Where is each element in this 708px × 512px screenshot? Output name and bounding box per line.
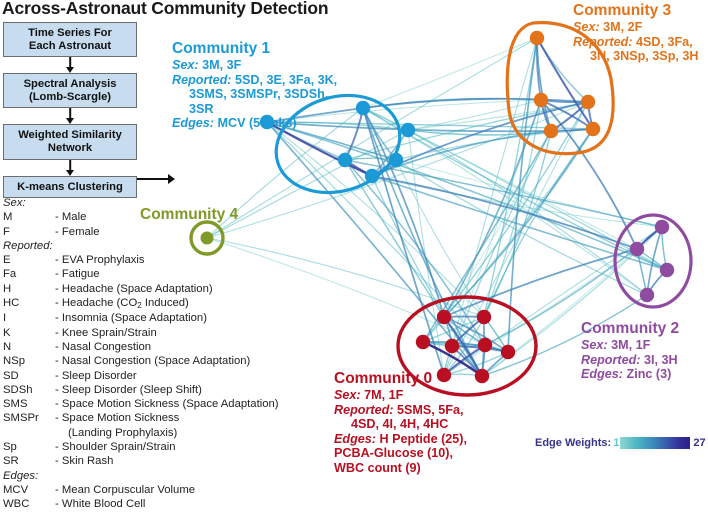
legend-key: I [3, 311, 55, 325]
network-edge [423, 131, 551, 342]
flow-step-spectral-analysis: Spectral Analysis (Lomb-Scargle) [3, 73, 137, 108]
community-2-title: Community 2 [581, 320, 708, 338]
reported-label: Reported: [573, 35, 632, 49]
network-edge [267, 122, 482, 376]
network-edge [372, 160, 396, 176]
flow-arrow-2 [3, 108, 137, 124]
network-edge [484, 317, 485, 345]
legend-row: WBC- White Blood Cell [3, 497, 288, 511]
network-edge [345, 160, 482, 376]
network-edge [423, 317, 484, 342]
network-edge [363, 99, 541, 108]
legend-value: - Headache (CO2 Induced) [55, 296, 288, 311]
network-node[interactable] [581, 95, 595, 109]
network-node[interactable] [365, 169, 379, 183]
network-edge [372, 176, 662, 227]
sex-value: 7M, 1F [364, 388, 403, 402]
edges-label: Edges: [172, 116, 214, 130]
flow-step-line1: Time Series For [6, 27, 134, 40]
network-edge [485, 345, 508, 352]
network-edge [345, 102, 588, 160]
network-edge [267, 122, 662, 227]
community-1-title: Community 1 [172, 40, 357, 58]
legend-value: - Space Motion Sickness [55, 411, 288, 425]
network-edge [267, 122, 667, 270]
legend-value: - Insomnia (Space Adaptation) [55, 311, 288, 325]
network-edge [482, 317, 484, 376]
network-node[interactable] [478, 338, 492, 352]
network-edge [662, 227, 667, 270]
community-0-edges-cont1: PCBA-Glucose (10), [334, 446, 524, 461]
reported-label: Reported: [334, 403, 393, 417]
legend-header-edges: Edges: [3, 469, 288, 483]
network-edge [423, 342, 485, 345]
network-edge [537, 38, 551, 131]
flow-arrow-3 [3, 160, 137, 176]
flow-step-line1: K-means Clustering [6, 181, 134, 194]
network-edge [372, 176, 637, 249]
network-edge [345, 158, 396, 160]
legend-value: - Knee Sprain/Strain [55, 326, 288, 340]
community-1-edges: Edges: MCV (5 links) [172, 116, 357, 131]
network-edge [372, 176, 667, 270]
network-edge [508, 38, 537, 352]
colorbar-gradient-swatch [620, 437, 690, 449]
legend-value-tail: Induced) [142, 297, 189, 309]
network-edge [267, 122, 484, 317]
legend-row: HC- Headache (CO2 Induced) [3, 296, 288, 311]
colorbar-max-value: 27 [693, 437, 705, 449]
network-node[interactable] [477, 310, 491, 324]
network-edge [484, 129, 593, 317]
sex-value: 3M, 2F [603, 20, 642, 34]
legend-key: K [3, 326, 55, 340]
community-0-edges-cont2: WBC count (9) [334, 461, 524, 476]
network-edge [647, 270, 667, 295]
network-edge [444, 249, 637, 317]
legend-value-subscript: 2 [137, 301, 141, 310]
network-edge [363, 108, 637, 249]
community-3-reported-cont: 3N, 3NSp, 3Sp, 3H [573, 49, 708, 64]
legend-key: SMSPr [3, 411, 55, 425]
network-edge [444, 100, 541, 317]
network-edge [408, 129, 593, 135]
flow-step-line2: (Lomb-Scargle) [6, 91, 134, 104]
community-hull-2 [615, 215, 691, 307]
legend-row: Fa- Fatigue [3, 267, 288, 281]
community-1-sex: Sex: 3M, 3F [172, 58, 357, 73]
network-edge [484, 131, 551, 317]
network-edge [363, 38, 537, 108]
network-node[interactable] [586, 122, 600, 136]
network-edge [408, 100, 541, 130]
legend-value: - Space Motion Sickness (Space Adaptatio… [55, 397, 288, 411]
edges-value: H Peptide (25), [380, 432, 467, 446]
legend-key: SMS [3, 397, 55, 411]
sex-label: Sex: [334, 388, 361, 402]
network-edge [363, 99, 588, 108]
community-2-annotation: Community 2 Sex: 3M, 1F Reported: 3I, 3H… [581, 320, 708, 382]
community-1-reported-cont: 3SMS, 3SMSPr, 3SDSh, [172, 87, 357, 102]
network-edge [484, 317, 508, 352]
legend-value: - Nasal Congestion [55, 340, 288, 354]
network-edge [537, 38, 541, 100]
network-edge [372, 130, 408, 176]
abbreviation-legend: Sex: M- Male F- Female Reported: E- EVA … [3, 196, 288, 512]
network-node[interactable] [437, 310, 451, 324]
legend-value: - Female [55, 225, 288, 239]
network-edge [363, 108, 444, 317]
network-edge [452, 345, 485, 346]
network-edge [363, 108, 444, 375]
network-edge [452, 38, 537, 346]
network-edge [345, 160, 662, 227]
edges-label: Edges: [581, 367, 623, 381]
network-edge [372, 102, 588, 176]
sex-value: 3M, 1F [611, 338, 650, 352]
network-edge [408, 130, 551, 135]
network-node[interactable] [389, 153, 403, 167]
legend-value-continuation: (Landing Prophylaxis) [3, 426, 288, 440]
network-edge [423, 342, 508, 352]
sex-label: Sex: [581, 338, 608, 352]
reported-value: 5SMS, 5Fa, [397, 403, 464, 417]
network-edge [551, 129, 593, 131]
network-edge [363, 108, 647, 295]
network-edge [444, 317, 452, 346]
flow-arrow-to-network-icon [137, 174, 179, 184]
legend-key: E [3, 253, 55, 267]
legend-key: H [3, 282, 55, 296]
legend-key: HC [3, 296, 55, 311]
network-edge [363, 108, 396, 160]
community-1-reported: Reported: 5SD, 3E, 3Fa, 3K, [172, 73, 357, 88]
edges-value: Zinc (3) [627, 367, 672, 381]
legend-value: - Nasal Congestion (Space Adaptation) [55, 354, 288, 368]
sex-label: Sex: [172, 58, 199, 72]
network-node[interactable] [530, 31, 544, 45]
legend-row: I- Insomnia (Space Adaptation) [3, 311, 288, 325]
legend-row: K- Knee Sprain/Strain [3, 326, 288, 340]
legend-key: SD [3, 369, 55, 383]
sex-value: 3M, 3F [202, 58, 241, 72]
network-edge [408, 102, 588, 130]
network-edge [372, 176, 482, 376]
community-4-title: Community 4 [140, 206, 238, 224]
community-3-reported: Reported: 4SD, 3Fa, [573, 35, 708, 50]
network-edge [363, 108, 482, 376]
network-edge [484, 38, 537, 317]
legend-value-text: - Headache (CO [55, 297, 137, 309]
legend-key: MCV [3, 483, 55, 497]
network-edge [588, 102, 593, 129]
network-edge [396, 160, 647, 295]
legend-key: N [3, 340, 55, 354]
network-edge [452, 346, 508, 352]
network-node[interactable] [356, 101, 370, 115]
legend-value: - Sleep Disorder (Sleep Shift) [55, 383, 288, 397]
flow-step-weighted-similarity-network: Weighted Similarity Network [3, 124, 137, 159]
network-edge [444, 317, 485, 345]
network-edge [345, 160, 372, 176]
reported-label: Reported: [581, 353, 640, 367]
network-edge [423, 129, 593, 342]
network-edge [637, 249, 667, 270]
page-title: Across-Astronaut Community Detection [2, 0, 328, 19]
network-node[interactable] [534, 93, 548, 107]
network-edge [444, 317, 508, 352]
reported-value: 4SD, 3Fa, [636, 35, 693, 49]
network-edge [363, 108, 408, 130]
legend-key: Fa [3, 267, 55, 281]
network-edge [363, 108, 667, 270]
network-edge [372, 131, 551, 176]
network-node[interactable] [445, 339, 459, 353]
legend-key: M [3, 210, 55, 224]
network-edge [444, 129, 593, 317]
network-edge [345, 160, 485, 345]
network-edge [444, 131, 551, 317]
legend-key: SR [3, 454, 55, 468]
network-edge [647, 227, 662, 295]
network-edge [408, 130, 647, 295]
community-0-reported: Reported: 5SMS, 5Fa, [334, 403, 524, 418]
network-edge [452, 100, 541, 346]
network-edge [444, 317, 484, 375]
community-0-title: Community 0 [334, 370, 524, 388]
network-edge [396, 129, 593, 160]
legend-key: WBC [3, 497, 55, 511]
legend-value: - Sleep Disorder [55, 369, 288, 383]
legend-key: Sp [3, 440, 55, 454]
community-0-annotation: Community 0 Sex: 7M, 1F Reported: 5SMS, … [334, 370, 524, 476]
edges-label: Edges: [334, 432, 376, 446]
reported-value: 3I, 3H [644, 353, 678, 367]
network-edge [452, 317, 484, 346]
community-2-sex: Sex: 3M, 1F [581, 338, 708, 353]
legend-row: SR- Skin Rash [3, 454, 288, 468]
legend-value: - Fatigue [55, 267, 288, 281]
network-edge [541, 100, 637, 249]
flow-step-line2: Each Astronaut [6, 40, 134, 53]
legend-value: - Headache (Space Adaptation) [55, 282, 288, 296]
network-node[interactable] [660, 263, 674, 277]
network-edge [444, 317, 482, 376]
edge-weights-colorbar: Edge Weights: 1 27 [535, 437, 706, 449]
legend-row: H- Headache (Space Adaptation) [3, 282, 288, 296]
edges-value: MCV (5 links) [218, 116, 297, 130]
community-4-annotation: Community 4 [140, 206, 238, 224]
network-edge [408, 130, 444, 375]
legend-value: - Mean Corpuscular Volume [55, 483, 288, 497]
network-edge [423, 342, 452, 346]
network-edge [541, 100, 588, 102]
flow-arrow-1 [3, 57, 137, 73]
community-2-reported: Reported: 3I, 3H [581, 353, 708, 368]
network-node[interactable] [338, 153, 352, 167]
community-2-edges: Edges: Zinc (3) [581, 367, 708, 382]
flow-step-line1: Weighted Similarity [6, 129, 134, 142]
flow-step-line2: Network [6, 142, 134, 155]
network-edge [267, 122, 485, 345]
network-node[interactable] [640, 288, 654, 302]
legend-row: Sp- Shoulder Sprain/Strain [3, 440, 288, 454]
network-edge [484, 100, 541, 317]
reported-label: Reported: [172, 73, 231, 87]
network-node[interactable] [416, 335, 430, 349]
community-1-annotation: Community 1 Sex: 3M, 3F Reported: 5SD, 3… [172, 40, 357, 131]
legend-row: E- EVA Prophylaxis [3, 253, 288, 267]
network-edge [551, 102, 588, 131]
network-node[interactable] [401, 123, 415, 137]
legend-row: N- Nasal Congestion [3, 340, 288, 354]
legend-row: SDSh- Sleep Disorder (Sleep Shift) [3, 383, 288, 397]
legend-row: SD- Sleep Disorder [3, 369, 288, 383]
colorbar-min-value: 1 [613, 437, 619, 449]
network-edge [637, 249, 647, 295]
network-edge [444, 131, 551, 375]
legend-row: SMSPr- Space Motion Sickness [3, 411, 288, 425]
network-edge [444, 102, 588, 375]
community-1-reported-cont2: 3SR [172, 102, 357, 117]
legend-key: F [3, 225, 55, 239]
legend-value: - White Blood Cell [55, 497, 288, 511]
network-edge [396, 160, 508, 352]
network-edge [541, 100, 593, 129]
legend-row: SMS- Space Motion Sickness (Space Adapta… [3, 397, 288, 411]
legend-key: SDSh [3, 383, 55, 397]
community-3-sex: Sex: 3M, 2F [573, 20, 708, 35]
colorbar-label: Edge Weights: [535, 437, 611, 449]
legend-row: MCV- Mean Corpuscular Volume [3, 483, 288, 497]
legend-value: - Shoulder Sprain/Strain [55, 440, 288, 454]
network-edge [408, 130, 667, 270]
community-0-sex: Sex: 7M, 1F [334, 388, 524, 403]
legend-row: NSp- Nasal Congestion (Space Adaptation) [3, 354, 288, 368]
network-edge [423, 102, 588, 342]
network-node[interactable] [630, 242, 644, 256]
network-node[interactable] [655, 220, 669, 234]
network-edge [637, 227, 662, 249]
flow-step-kmeans-clustering: K-means Clustering [3, 176, 137, 199]
legend-value: - Skin Rash [55, 454, 288, 468]
community-3-title: Community 3 [573, 2, 708, 20]
legend-value: - EVA Prophylaxis [55, 253, 288, 267]
reported-value: 5SD, 3E, 3Fa, 3K, [235, 73, 337, 87]
flow-step-time-series: Time Series For Each Astronaut [3, 22, 137, 57]
flow-step-line1: Spectral Analysis [6, 78, 134, 91]
legend-row: F- Female [3, 225, 288, 239]
legend-header-reported: Reported: [3, 239, 288, 253]
network-node[interactable] [544, 124, 558, 138]
network-node[interactable] [501, 345, 515, 359]
community-3-annotation: Community 3 Sex: 3M, 2F Reported: 4SD, 3… [573, 2, 708, 64]
community-0-edges: Edges: H Peptide (25), [334, 432, 524, 447]
community-0-reported-cont: 4SD, 4I, 4H, 4HC [334, 417, 524, 432]
sex-label: Sex: [573, 20, 600, 34]
network-edge [541, 100, 551, 131]
legend-key: NSp [3, 354, 55, 368]
pipeline-flowchart: Time Series For Each Astronaut Spectral … [3, 22, 137, 198]
